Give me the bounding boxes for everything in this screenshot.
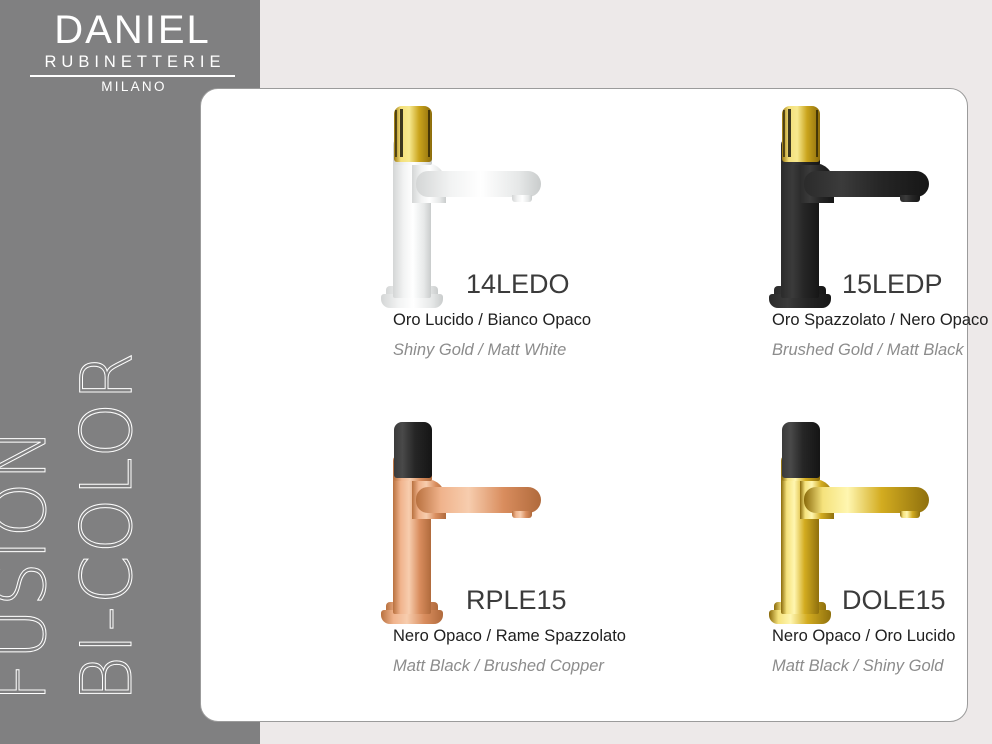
product-card[interactable]: 14LEDO Oro Lucido / Bianco Opaco Shiny G…	[201, 89, 584, 405]
product-description-en: Shiny Gold / Matt White	[393, 341, 566, 360]
product-card[interactable]: RPLE15 Nero Opaco / Rame Spazzolato Matt…	[201, 405, 584, 721]
product-description-it: Oro Lucido / Bianco Opaco	[393, 311, 591, 330]
faucet-spout	[416, 171, 541, 197]
faucet-cap	[782, 422, 820, 478]
product-grid: 14LEDO Oro Lucido / Bianco Opaco Shiny G…	[201, 89, 967, 721]
product-description-en: Matt Black / Shiny Gold	[772, 657, 944, 676]
product-code: DOLE15	[842, 585, 946, 616]
faucet-spout	[804, 487, 929, 513]
product-card[interactable]: 15LEDP Oro Spazzolato / Nero Opaco Brush…	[584, 89, 967, 405]
collection-word-bicolor: BI-COLOR	[66, 350, 148, 702]
faucet-spout	[804, 171, 929, 197]
product-description-it: Oro Spazzolato / Nero Opaco	[772, 311, 988, 330]
faucet-cap-edge-left	[395, 110, 397, 157]
faucet-aerator	[900, 511, 920, 518]
product-panel: 14LEDO Oro Lucido / Bianco Opaco Shiny G…	[200, 88, 968, 722]
faucet-aerator	[512, 511, 532, 518]
product-description-en: Brushed Gold / Matt Black	[772, 341, 964, 360]
faucet-cap-edge-right	[428, 110, 430, 157]
faucet-cap	[394, 422, 432, 478]
product-description-en: Matt Black / Brushed Copper	[393, 657, 604, 676]
product-description-it: Nero Opaco / Oro Lucido	[772, 627, 955, 646]
product-code: 15LEDP	[842, 269, 943, 300]
product-code: RPLE15	[466, 585, 567, 616]
product-card[interactable]: DOLE15 Nero Opaco / Oro Lucido Matt Blac…	[584, 405, 967, 721]
faucet-cap-highlight	[400, 109, 403, 157]
collection-word-fusion: FUSION	[0, 426, 62, 702]
faucet-cap-edge-right	[816, 110, 818, 157]
product-code: 14LEDO	[466, 269, 570, 300]
faucet-aerator	[512, 195, 532, 202]
faucet-aerator	[900, 195, 920, 202]
faucet-cap-edge-left	[783, 110, 785, 157]
faucet-cap-highlight	[788, 109, 791, 157]
faucet-spout	[416, 487, 541, 513]
